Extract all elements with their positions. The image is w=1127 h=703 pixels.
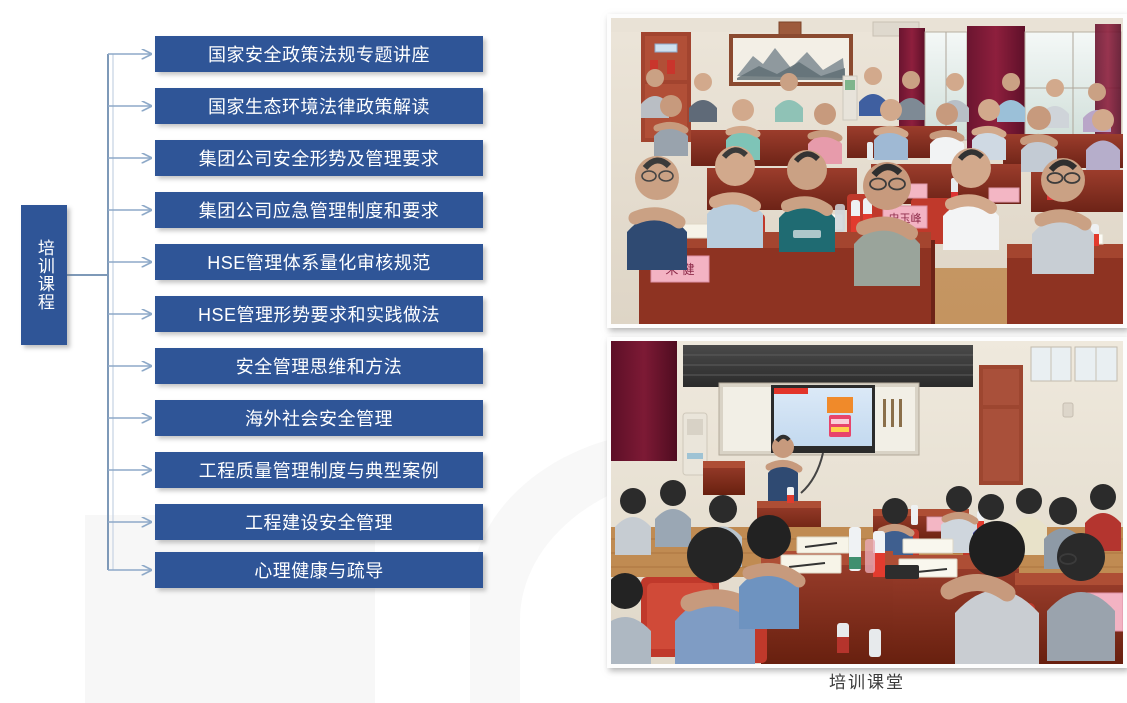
training-photo-top[interactable]: 朱 健 史玉峰 xyxy=(607,14,1127,328)
course-box[interactable]: 安全管理思维和方法 xyxy=(155,348,483,384)
course-box[interactable]: 集团公司安全形势及管理要求 xyxy=(155,140,483,176)
course-box[interactable]: 集团公司应急管理制度和要求 xyxy=(155,192,483,228)
course-box[interactable]: 工程建设安全管理 xyxy=(155,504,483,540)
training-course-diagram: 培训课程 国家安全政策法规专题讲座 国家生态环境法律政策解读 集团公司安全形势及… xyxy=(0,0,600,703)
course-box[interactable]: 国家安全政策法规专题讲座 xyxy=(155,36,483,72)
course-box[interactable]: 工程质量管理制度与典型案例 xyxy=(155,452,483,488)
course-box[interactable]: HSE管理形势要求和实践做法 xyxy=(155,296,483,332)
root-node-training-course[interactable]: 培训课程 xyxy=(21,205,67,345)
training-photo-top-image: 朱 健 史玉峰 xyxy=(611,18,1123,324)
root-node-label: 培训课程 xyxy=(35,239,53,311)
course-box[interactable]: HSE管理体系量化审核规范 xyxy=(155,244,483,280)
course-box[interactable]: 心理健康与疏导 xyxy=(155,552,483,588)
training-photo-bottom-image: 朱 xyxy=(611,341,1123,664)
photo-column: 朱 健 史玉峰 xyxy=(607,0,1127,703)
course-box[interactable]: 海外社会安全管理 xyxy=(155,400,483,436)
photo-caption: 培训课堂 xyxy=(607,668,1127,693)
training-photo-bottom[interactable]: 朱 xyxy=(607,337,1127,668)
course-box[interactable]: 国家生态环境法律政策解读 xyxy=(155,88,483,124)
